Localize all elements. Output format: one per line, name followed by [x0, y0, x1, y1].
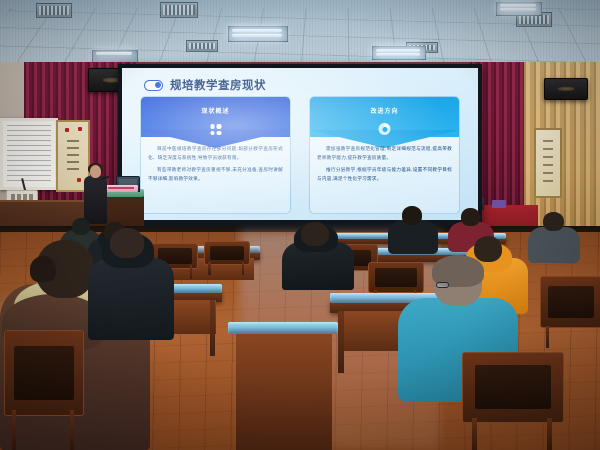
- chair: [540, 276, 600, 348]
- attendee-black-coat-front: [88, 228, 174, 338]
- card-header-label: 改进方向: [310, 106, 459, 115]
- presenter-body: [84, 176, 107, 224]
- attendee-jacket: [88, 258, 174, 340]
- chair: [4, 330, 82, 450]
- fluorescent-tube: [376, 49, 420, 52]
- card-paragraph: 有些带教老师对教学查房重视不够,未充分准备,查房时讲解不够详细,影响教学效果。: [148, 166, 283, 184]
- ceiling-air-vent: [36, 3, 72, 18]
- fluorescent-tube: [232, 29, 282, 32]
- slide-title-row: 规培教学查房现状: [144, 77, 266, 93]
- ceiling-air-vent: [160, 2, 198, 18]
- attendee-jacket: [528, 227, 580, 263]
- fluorescent-tube: [232, 34, 282, 37]
- fluorescent-tube: [376, 53, 420, 56]
- attendee-head: [301, 222, 329, 246]
- desk-leg: [338, 311, 344, 373]
- presenter-head: [90, 165, 101, 178]
- toggle-pill-icon: [144, 80, 163, 91]
- attendee-grey-right: [528, 212, 580, 260]
- desk-surface: [228, 322, 338, 334]
- desk-front-panel: [236, 330, 332, 450]
- attendee-black-coat-right: [388, 206, 438, 252]
- attendee-black-front-right: [282, 222, 354, 288]
- slide-card-group: 现状概述 目前中医规培教学查房存在部分问题,如部分教学查房形式化、缺乏深度与系统…: [140, 96, 460, 214]
- desk-leg: [210, 300, 215, 356]
- card-header-label: 现状概述: [141, 106, 290, 115]
- presentation-slide: 规培教学查房现状 现状概述 目前中医规培教学查房存在部分问题,如部分教学查房形式…: [122, 68, 478, 220]
- slide-card-improvement-direction: 改进方向 需加强教学查房规范化管理,制定详细规范与流程,提高带教老师教学能力,提…: [309, 96, 460, 214]
- chair: [204, 241, 248, 273]
- attendee-head: [110, 228, 144, 258]
- slide-card-current-status: 现状概述 目前中医规培教学查房存在部分问题,如部分教学查房形式化、缺乏深度与系统…: [140, 96, 291, 214]
- card-paragraph: 需加强教学查房规范化管理,制定详细规范与流程,提高带教老师教学能力,提升教学查房…: [317, 145, 452, 163]
- chair: [462, 352, 562, 450]
- attendee-head: [543, 212, 564, 231]
- card-paragraph: 目前中医规培教学查房存在部分问题,如部分教学查房形式化、缺乏深度与系统性,导致学…: [148, 145, 283, 163]
- card-body-text: 需加强教学查房规范化管理,制定详细规范与流程,提高带教老师教学能力,提升教学查房…: [317, 145, 452, 207]
- presenter: [84, 165, 106, 223]
- pink-desk-sign: [104, 185, 138, 192]
- purple-folder: [492, 200, 506, 208]
- card-paragraph: 推行分层教学,根据学员年级与能力差异,设置不同教学目标与内容,满足个性化学习需求…: [317, 166, 452, 184]
- fluorescent-tube: [96, 52, 132, 55]
- lecture-room-photo: 规培教学查房现状 现状概述 目前中医规培教学查房存在部分问题,如部分教学查房形式…: [0, 0, 600, 450]
- ceiling-speaker-right: [544, 78, 588, 100]
- pie-chart-icon: [378, 123, 391, 136]
- attendee-head: [461, 208, 480, 226]
- card-body-text: 目前中医规培教学查房存在部分问题,如部分教学查房形式化、缺乏深度与系统性,导致学…: [148, 145, 283, 207]
- attendee-hair-bun: [30, 256, 56, 282]
- eyeglasses: [436, 282, 449, 288]
- attendee-jacket: [388, 220, 438, 254]
- fluorescent-tube: [500, 8, 536, 11]
- attendee-head: [402, 206, 422, 225]
- ceiling-air-vent: [186, 40, 218, 52]
- four-dots-grid-icon: [209, 123, 222, 136]
- fluorescent-tube: [500, 4, 536, 7]
- slide-title: 规培教学查房现状: [170, 77, 266, 93]
- wall-notice-board: [0, 118, 58, 190]
- calligraphy-scroll-right: [534, 128, 562, 198]
